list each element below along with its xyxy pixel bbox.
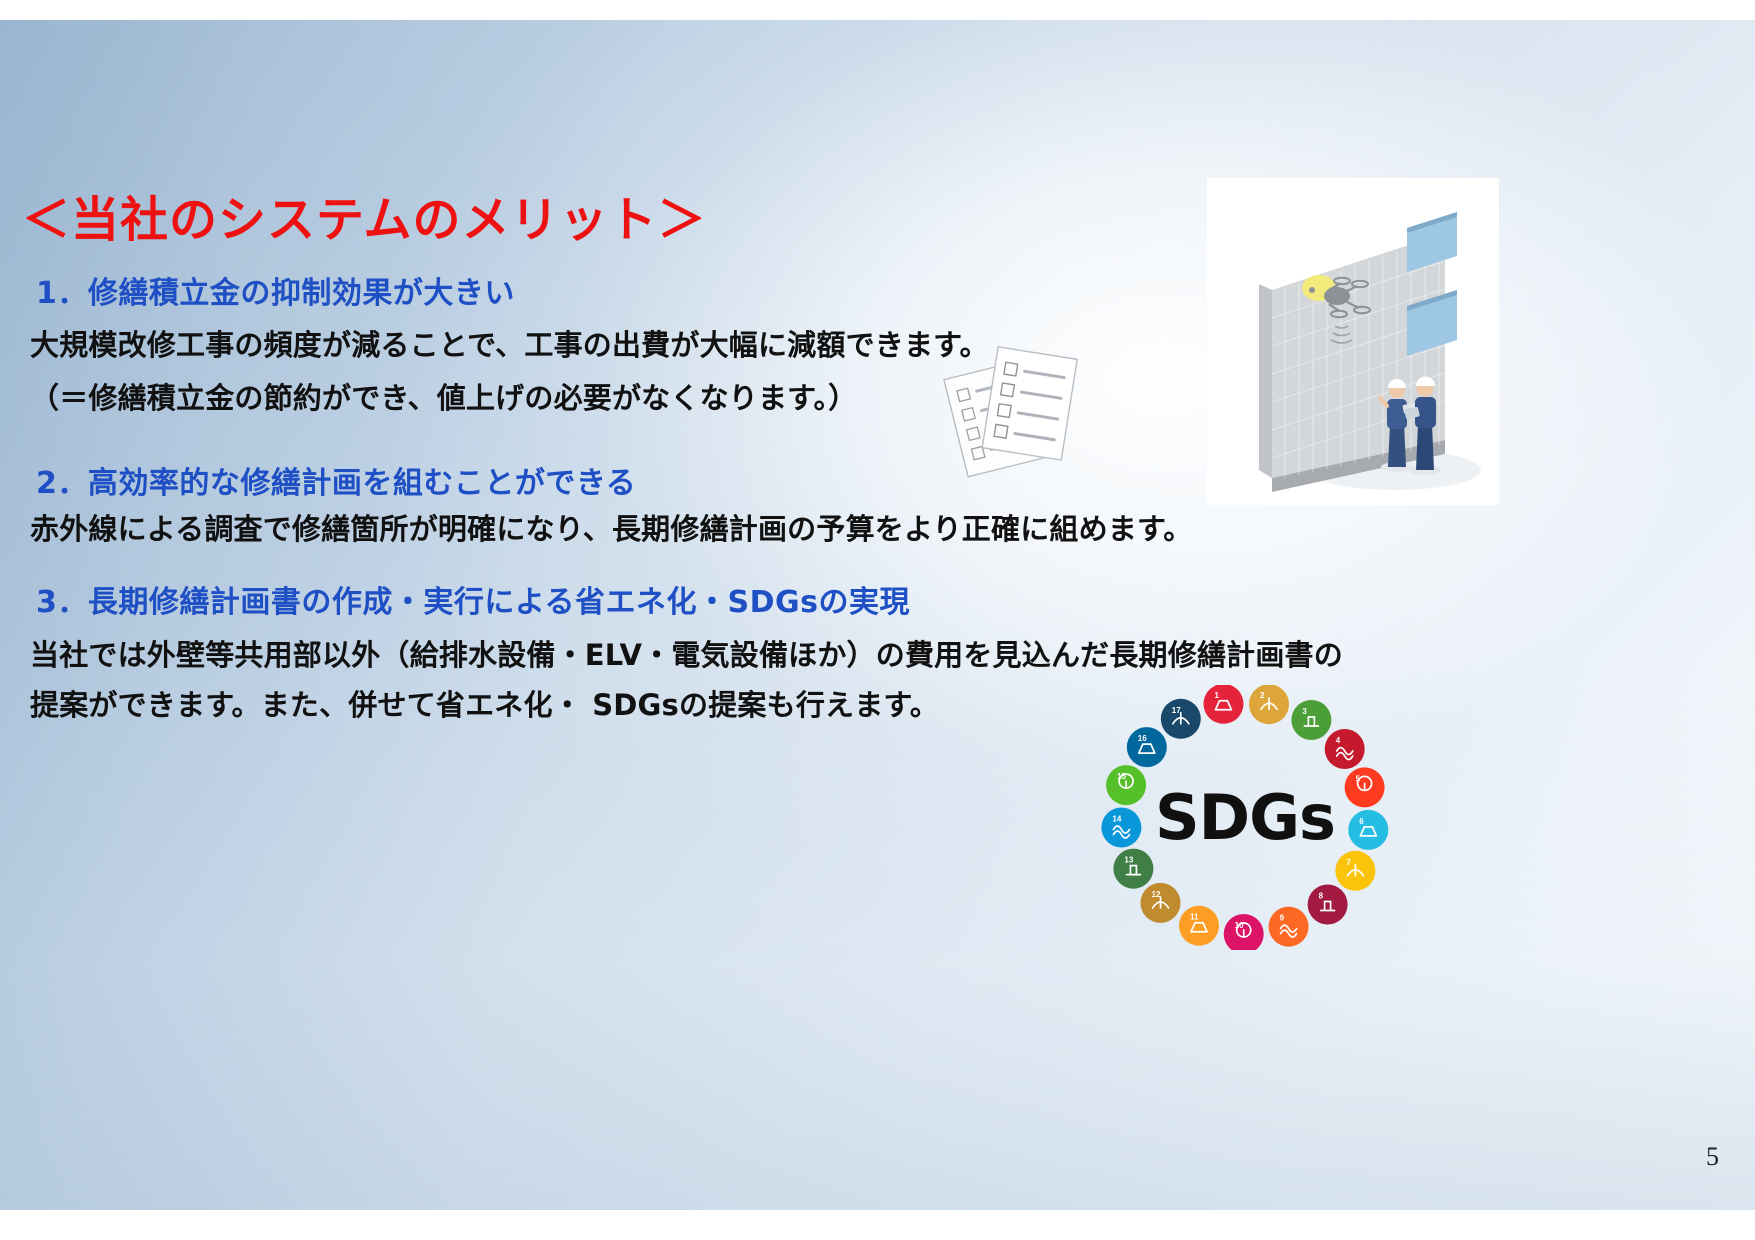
checklist-icon [938, 338, 1088, 488]
sdg-goal-number-2: 2 [1260, 691, 1265, 700]
sdg-goal-number-4: 4 [1336, 736, 1341, 745]
sdg-goal-number-1: 1 [1215, 691, 1220, 700]
sdg-goal-11 [1179, 906, 1219, 946]
sdg-goal-8 [1308, 885, 1348, 925]
sdg-goal-number-13: 13 [1124, 856, 1133, 865]
sdg-goal-number-7: 7 [1346, 858, 1351, 867]
presentation-slide: ＜当社のシステムのメリット＞ 1．修繕積立金の抑制効果が大きい 大規模改修工事の… [0, 20, 1755, 1210]
sdg-goal-13 [1113, 849, 1153, 889]
sdg-goal-4 [1325, 729, 1365, 769]
sdg-goal-9 [1269, 907, 1309, 947]
sdg-goal-number-11: 11 [1190, 913, 1199, 922]
section-3-heading: 3．長期修繕計画書の作成・実行による省エネ化・SDGsの実現 [36, 577, 910, 621]
sdg-goal-number-9: 9 [1280, 914, 1285, 923]
drone-building-inspection-image [1207, 178, 1499, 505]
section-3-line-1: 当社では外壁等共用部以外（給排水設備・ELV・電気設備ほか）の費用を見込んだ長期… [30, 632, 1343, 674]
sdg-goal-14 [1101, 808, 1141, 848]
section-1-heading: 1．修繕積立金の抑制効果が大きい [36, 268, 515, 312]
checklist-documents-image [938, 338, 1088, 488]
section-2-heading: 2．高効率的な修繕計画を組むことができる [36, 458, 636, 502]
page-number: 5 [1706, 1142, 1719, 1172]
sdg-goal-16 [1127, 727, 1167, 767]
sdgs-wheel: 1234567891011121314151617 [1095, 685, 1395, 950]
section-3-line-2: 提案ができます。また、併せて省エネ化・ SDGsの提案も行えます。 [30, 682, 939, 724]
sdg-goal-number-12: 12 [1152, 890, 1161, 899]
sdg-goal-number-17: 17 [1172, 706, 1181, 715]
section-2-line-1: 赤外線による調査で修繕箇所が明確になり、長期修繕計画の予算をより正確に組めます。 [30, 506, 1193, 548]
drone-inspection-illustration [1207, 178, 1499, 505]
sdg-goal-number-8: 8 [1319, 892, 1324, 901]
sdg-goal-number-14: 14 [1112, 815, 1121, 824]
sdg-goal-number-3: 3 [1302, 707, 1307, 716]
sdg-goal-1 [1204, 685, 1244, 724]
sdg-goal-6 [1348, 810, 1388, 850]
sdg-goal-3 [1291, 700, 1331, 740]
sdg-goal-number-6: 6 [1359, 817, 1364, 826]
section-1-line-2: （＝修繕積立金の節約ができ、値上げの必要がなくなります。） [30, 375, 857, 417]
section-1-line-1: 大規模改修工事の頻度が減ることで、工事の出費が大幅に減額できます。 [30, 322, 989, 364]
sdgs-logo: 1234567891011121314151617 SDGs [1095, 685, 1395, 950]
sdg-goal-number-16: 16 [1138, 734, 1147, 743]
page-title: ＜当社のシステムのメリット＞ [22, 180, 707, 250]
